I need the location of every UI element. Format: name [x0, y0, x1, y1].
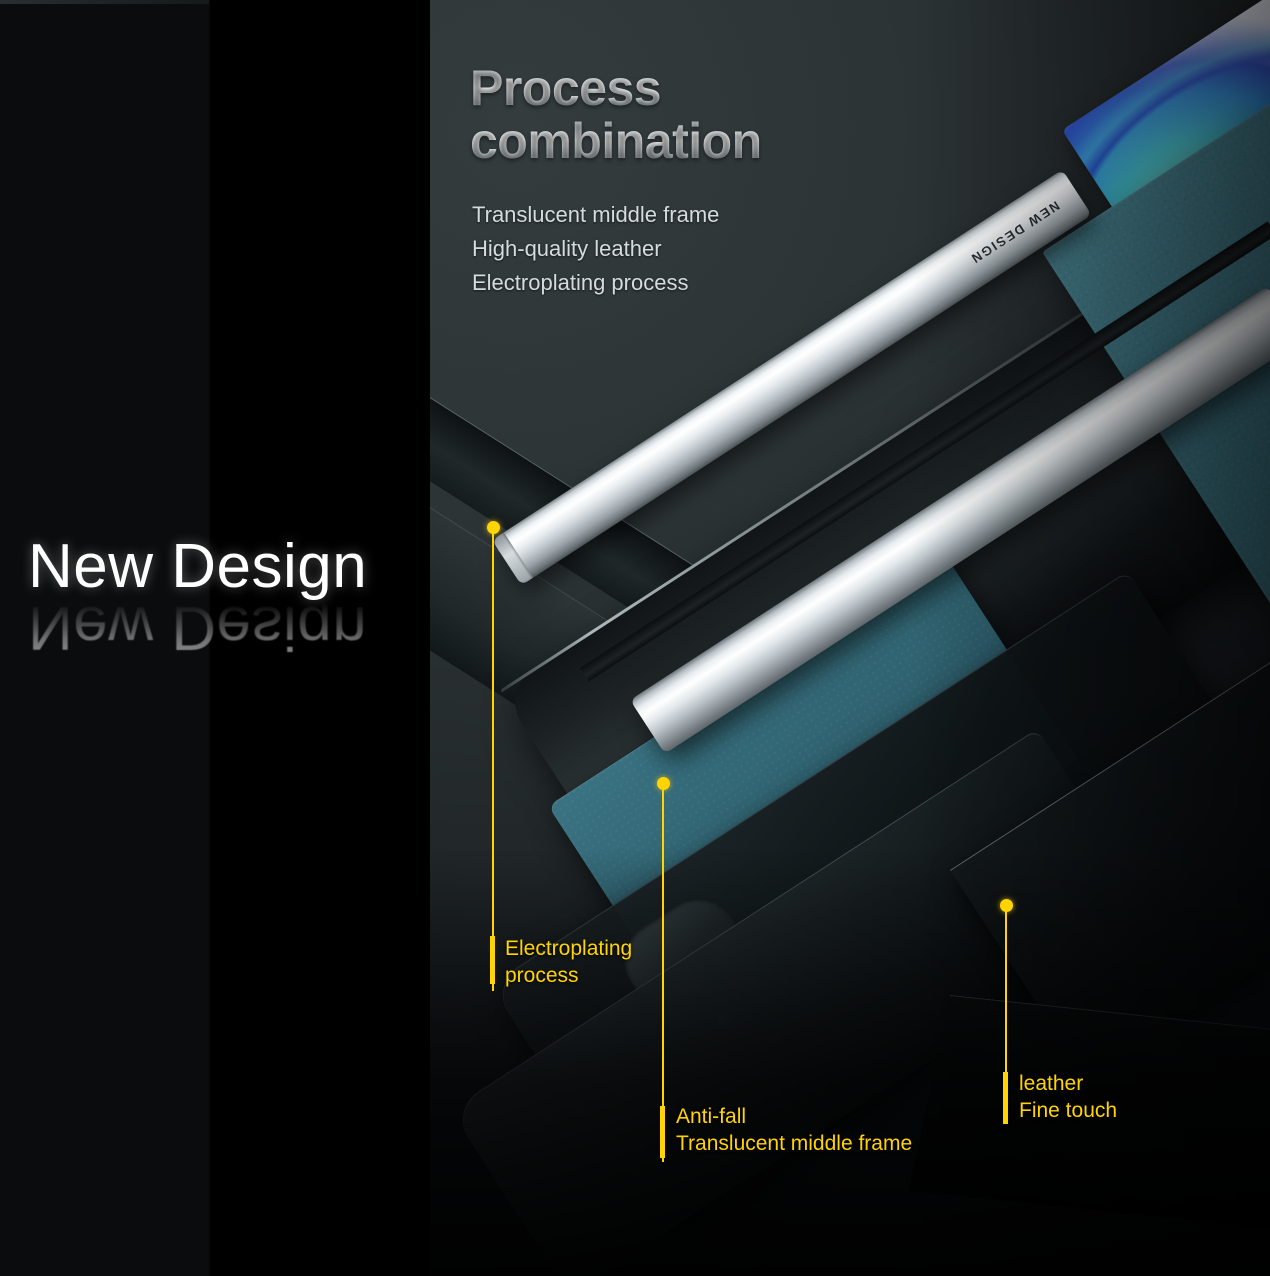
callout-bar-electroplating — [490, 936, 495, 984]
heading-line-2: combination — [470, 115, 900, 168]
callout-text-electroplating: Electroplating process — [505, 936, 632, 990]
callout-line-electroplating — [492, 531, 494, 991]
callout-electroplating-line2: process — [505, 963, 632, 990]
brand-block: New Design New Design — [28, 536, 428, 720]
callout-antifall-line1: Anti-fall — [676, 1104, 912, 1131]
brand-title: New Design — [28, 536, 428, 598]
callout-bar-antifall — [660, 1106, 665, 1158]
product-photo-scene: NEW DESIGN Process combination Transluce… — [430, 0, 1270, 1276]
callout-antifall-line2: Translucent middle frame — [676, 1131, 912, 1158]
callout-electroplating-line1: Electroplating — [505, 936, 632, 963]
callout-leather-line2: Fine touch — [1019, 1098, 1117, 1125]
brand-title-reflection: New Design — [28, 596, 428, 658]
callout-dot-leather — [1000, 899, 1013, 912]
feature-item-1: High-quality leather — [472, 232, 719, 266]
product-banner: New Design New Design NEW DESIGN — [0, 0, 1270, 1276]
feature-list: Translucent middle frame High-quality le… — [472, 198, 719, 300]
feature-item-0: Translucent middle frame — [472, 198, 719, 232]
callout-text-leather: leather Fine touch — [1019, 1071, 1117, 1125]
feature-item-2: Electroplating process — [472, 266, 719, 300]
left-brand-panel: New Design New Design — [0, 0, 430, 1276]
scene-heading: Process combination — [470, 62, 900, 167]
callout-bar-leather — [1003, 1072, 1008, 1124]
callout-leather-line1: leather — [1019, 1071, 1117, 1098]
callout-dot-electroplating — [487, 521, 500, 534]
callout-dot-antifall — [657, 777, 670, 790]
callout-line-leather — [1005, 909, 1007, 1074]
panel-top-rule — [0, 0, 209, 4]
heading-line-1: Process — [470, 62, 900, 115]
callout-text-antifall: Anti-fall Translucent middle frame — [676, 1104, 912, 1158]
